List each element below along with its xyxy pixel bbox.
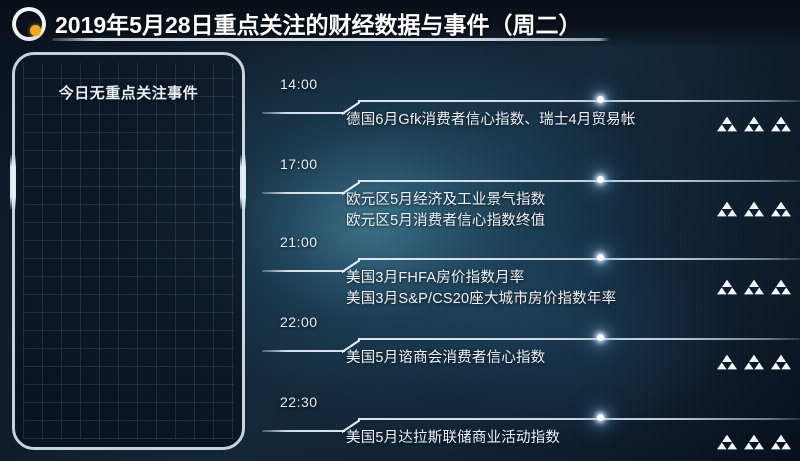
timeline-glow-dot	[597, 254, 604, 261]
timeline-line-lower-segment	[262, 112, 345, 114]
timeline-glow-dot	[597, 334, 604, 341]
timeline-time-label: 21:00	[280, 234, 318, 250]
timeline-rating-group	[717, 201, 791, 217]
triangle-cluster-icon	[771, 201, 791, 217]
timeline-rating-group	[717, 116, 791, 132]
timeline-event-text: 德国6月Gfk消费者信心指数、瑞士4月贸易帐	[346, 110, 636, 131]
timeline-event-line: 欧元区5月经济及工业景气指数	[346, 190, 545, 211]
timeline-glow-dot	[597, 414, 604, 421]
left-panel-empty-message: 今日无重点关注事件	[12, 82, 245, 103]
timeline-event-line: 美国3月S&P/CS20座大城市房价指数年率	[346, 289, 616, 310]
timeline-line-upper-segment	[358, 180, 800, 182]
timeline-rating-group	[717, 279, 791, 295]
page-title: 2019年5月28日重点关注的财经数据与事件（周二）	[55, 6, 582, 40]
timeline-time-label: 22:30	[280, 394, 318, 410]
timeline-line-upper-segment	[358, 338, 800, 340]
timeline-line-upper-segment	[358, 258, 800, 260]
triangle-cluster-icon	[771, 354, 791, 370]
triangle-cluster-icon	[744, 434, 764, 450]
triangle-cluster-icon	[771, 434, 791, 450]
left-panel-grid	[23, 63, 234, 439]
timeline-line-lower-segment	[262, 192, 345, 194]
timeline-line-lower-segment	[262, 270, 345, 272]
triangle-cluster-icon	[717, 116, 737, 132]
timeline-glow-dot	[597, 176, 604, 183]
timeline-rating-group	[717, 354, 791, 370]
timeline-line-lower-segment	[262, 430, 345, 432]
triangle-cluster-icon	[717, 354, 737, 370]
timeline-rating-group	[717, 434, 791, 450]
triangle-cluster-icon	[717, 434, 737, 450]
timeline: 14:00德国6月Gfk消费者信心指数、瑞士4月贸易帐17:00欧元区5月经济及…	[262, 46, 800, 461]
triangle-cluster-icon	[717, 279, 737, 295]
timeline-event-line: 德国6月Gfk消费者信心指数、瑞士4月贸易帐	[346, 110, 636, 131]
triangle-cluster-icon	[744, 354, 764, 370]
timeline-line-upper-segment	[358, 100, 800, 102]
header: 2019年5月28日重点关注的财经数据与事件（周二）	[0, 0, 800, 46]
left-events-panel	[12, 52, 245, 450]
circle-q-logo-icon	[10, 5, 46, 41]
title-underline	[52, 38, 610, 41]
timeline-event-line: 美国3月FHFA房价指数月率	[346, 268, 616, 289]
slide-root: 2019年5月28日重点关注的财经数据与事件（周二） 今日无重点关注事件 14:…	[0, 0, 800, 461]
triangle-cluster-icon	[744, 201, 764, 217]
timeline-event-line: 美国5月谘商会消费者信心指数	[346, 348, 545, 369]
left-panel-notch-right	[240, 155, 246, 209]
timeline-line-lower-segment	[262, 350, 345, 352]
timeline-line-upper-segment	[358, 418, 800, 420]
timeline-time-label: 22:00	[280, 314, 318, 330]
logo-dot-shape	[30, 25, 41, 36]
triangle-cluster-icon	[717, 201, 737, 217]
timeline-event-line: 欧元区5月消费者信心指数终值	[346, 211, 545, 232]
timeline-time-label: 14:00	[280, 76, 318, 92]
triangle-cluster-icon	[771, 279, 791, 295]
left-panel-notch-left	[10, 155, 16, 209]
timeline-event-line: 美国5月达拉斯联储商业活动指数	[346, 428, 560, 449]
timeline-time-label: 17:00	[280, 156, 318, 172]
timeline-event-text: 美国3月FHFA房价指数月率美国3月S&P/CS20座大城市房价指数年率	[346, 268, 616, 310]
timeline-event-text: 美国5月达拉斯联储商业活动指数	[346, 428, 560, 449]
triangle-cluster-icon	[771, 116, 791, 132]
timeline-event-text: 美国5月谘商会消费者信心指数	[346, 348, 545, 369]
timeline-glow-dot	[597, 96, 604, 103]
timeline-event-text: 欧元区5月经济及工业景气指数欧元区5月消费者信心指数终值	[346, 190, 545, 232]
logo-ring-shape	[12, 7, 46, 41]
triangle-cluster-icon	[744, 116, 764, 132]
triangle-cluster-icon	[744, 279, 764, 295]
